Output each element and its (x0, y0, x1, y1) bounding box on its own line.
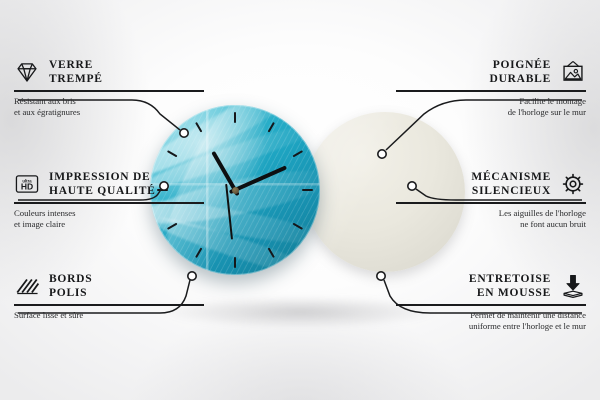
feature-entretoise-en-mousse: ENTRETOISE EN MOUSSE Permet de maintenir… (396, 272, 586, 333)
feature-subtitle: Résistant aux bris et aux égratignures (14, 96, 204, 119)
feature-header: POIGNÉE DURABLE (396, 58, 586, 86)
product-infographic: VERRE TREMPÉ Résistant aux bris et aux é… (0, 0, 600, 400)
feature-bords-polis: BORDS POLIS Surface lisse et sûre (14, 272, 204, 321)
feature-subtitle: Couleurs intenses et image claire (14, 208, 204, 231)
picture-hanger-icon (560, 59, 586, 85)
polished-edges-icon (14, 273, 40, 299)
endpoint-entretoise (377, 272, 385, 280)
feature-title: BORDS POLIS (49, 272, 92, 300)
feature-subtitle: Surface lisse et sûre (14, 310, 204, 322)
feature-header: ultra HD IMPRESSION DE HAUTE QUALITÉ (14, 170, 204, 198)
feature-header: BORDS POLIS (14, 272, 204, 300)
ultra-hd-icon: ultra HD (14, 171, 40, 197)
feature-subtitle: Facilite le montage de l'horloge sur le … (396, 96, 586, 119)
feature-divider (396, 304, 586, 306)
feature-divider (14, 304, 204, 306)
feature-subtitle: Permet de maintenir une distance uniform… (396, 310, 586, 333)
feature-header: MÉCANISME SILENCIEUX (396, 170, 586, 198)
ultra-hd-large-label: HD (21, 182, 33, 192)
feature-header: VERRE TREMPÉ (14, 58, 204, 86)
feature-title: IMPRESSION DE HAUTE QUALITÉ (49, 170, 156, 198)
feature-title: ENTRETOISE EN MOUSSE (469, 272, 551, 300)
feature-divider (14, 202, 204, 204)
feature-divider (396, 90, 586, 92)
feature-title: MÉCANISME SILENCIEUX (471, 170, 551, 198)
diamond-icon (14, 59, 40, 85)
feature-header: ENTRETOISE EN MOUSSE (396, 272, 586, 300)
feature-impression-haute-qualite: ultra HD IMPRESSION DE HAUTE QUALITÉ Cou… (14, 170, 204, 231)
gear-icon (560, 171, 586, 197)
feature-verre-trempe: VERRE TREMPÉ Résistant aux bris et aux é… (14, 58, 204, 119)
feature-title: POIGNÉE DURABLE (490, 58, 551, 86)
feature-title: VERRE TREMPÉ (49, 58, 103, 86)
feature-mecanisme-silencieux: MÉCANISME SILENCIEUX Les aiguilles de l'… (396, 170, 586, 231)
feature-subtitle: Les aiguilles de l'horloge ne font aucun… (396, 208, 586, 231)
foam-spacer-icon (560, 273, 586, 299)
feature-divider (396, 202, 586, 204)
feature-poignee-durable: POIGNÉE DURABLE Facilite le montage de l… (396, 58, 586, 119)
clock-hands-hub (232, 187, 239, 194)
feature-divider (14, 90, 204, 92)
